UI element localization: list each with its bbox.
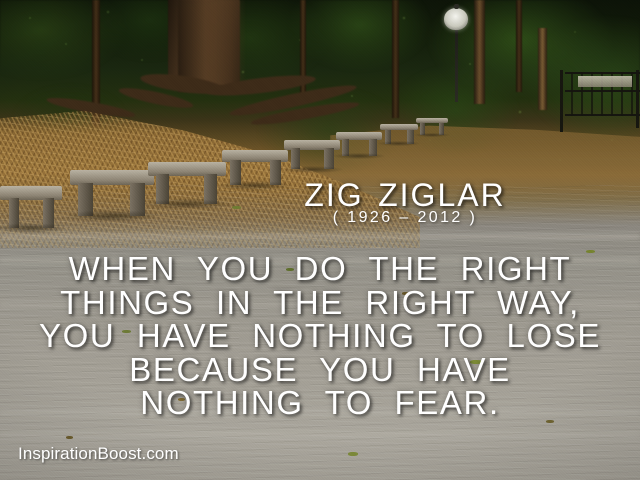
author-years: ( 1926 – 2012 ) (0, 209, 640, 227)
quote-line: WHEN YOU DO THE RIGHT (0, 252, 640, 286)
quote-line: THINGS IN THE RIGHT WAY, (0, 286, 640, 320)
quote-line: YOU HAVE NOTHING TO LOSE (0, 319, 640, 353)
quote-line: BECAUSE YOU HAVE (0, 353, 640, 387)
quote-text: WHEN YOU DO THE RIGHT THINGS IN THE RIGH… (0, 252, 640, 420)
text-overlay: Zig Ziglar ( 1926 – 2012 ) WHEN YOU DO T… (0, 0, 640, 480)
watermark-site-name: InspirationBoost.com (18, 444, 179, 464)
quote-line: NOTHING TO FEAR. (0, 386, 640, 420)
quote-poster: Zig Ziglar ( 1926 – 2012 ) WHEN YOU DO T… (0, 0, 640, 480)
author-name: Zig Ziglar (0, 168, 640, 214)
